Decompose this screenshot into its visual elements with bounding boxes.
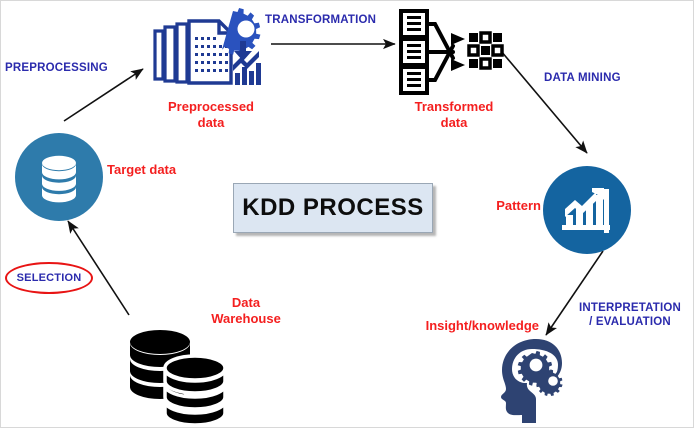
documents-binary-glyph [397,7,509,95]
arrow-preprocessing [64,69,143,121]
artifact-label-pattern: Pattern [469,198,541,214]
selection-badge: SELECTION [5,262,93,294]
head-gears-glyph [496,337,568,423]
documents-gear-chart-glyph [147,7,269,93]
bar-chart-glyph [558,181,616,239]
artifact-label-transformed-data: Transformed data [393,99,515,131]
chart-circle-icon [543,166,631,254]
artifact-label-data-warehouse: Data Warehouse [191,295,301,327]
kdd-process-box-label: KDD PROCESS [242,194,424,222]
artifact-label-preprocessed-data: Preprocessed data [151,99,271,131]
stage-label-preprocessing: PREPROCESSING [5,61,108,75]
documents-binary-icon [397,7,509,95]
artifact-label-insight-knowledge: Insight/knowledge [379,318,539,334]
database-circle-icon [15,133,103,221]
database-stack-glyph [123,328,233,424]
kdd-process-diagram: PREPROCESSING TRANSFORMATION DATA MINING… [0,0,694,428]
stage-label-data-mining: DATA MINING [544,71,621,85]
documents-gear-chart-icon [147,7,269,93]
stage-label-interpretation: INTERPRETATION / EVALUATION [579,301,681,329]
database-stack-icon [123,328,233,424]
stage-label-transformation: TRANSFORMATION [265,13,376,27]
selection-badge-label: SELECTION [17,272,82,284]
kdd-process-box: KDD PROCESS [233,183,433,233]
artifact-label-target-data: Target data [107,162,213,178]
head-gears-icon [496,337,568,423]
database-glyph [31,149,87,205]
